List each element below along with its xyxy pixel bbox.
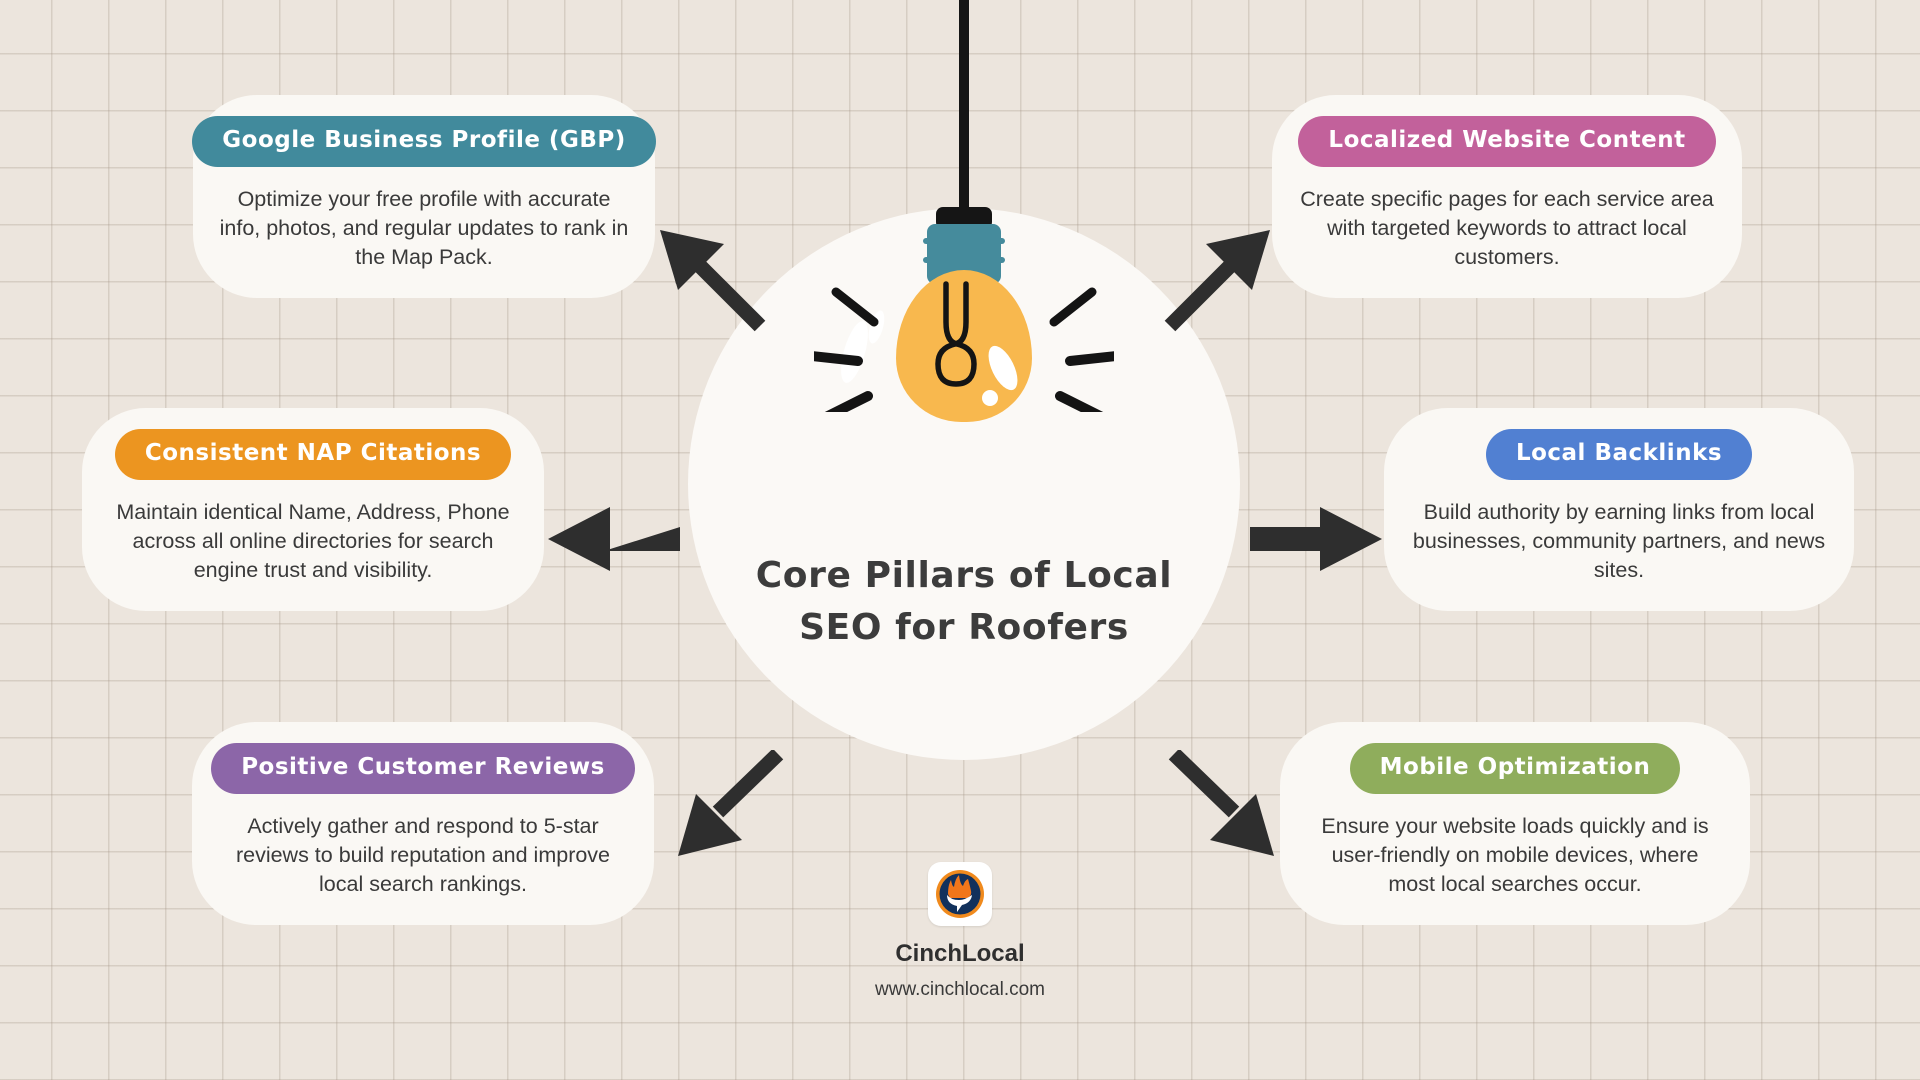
footer-branding: CinchLocal www.cinchlocal.com bbox=[875, 862, 1045, 1001]
card-consistent-nap-citations[interactable]: Consistent NAP Citations Maintain identi… bbox=[82, 408, 544, 611]
card-header-nap: Consistent NAP Citations bbox=[115, 429, 511, 480]
arrow-to-nap bbox=[548, 505, 680, 573]
card-local-backlinks[interactable]: Local Backlinks Build authority by earni… bbox=[1384, 408, 1854, 611]
arrow-to-localized-content bbox=[1140, 198, 1290, 338]
brand-url: www.cinchlocal.com bbox=[875, 979, 1045, 1001]
card-header-mobile: Mobile Optimization bbox=[1350, 743, 1681, 794]
arrow-to-backlinks bbox=[1250, 505, 1382, 573]
card-header-backlinks: Local Backlinks bbox=[1486, 429, 1752, 480]
card-header-content: Localized Website Content bbox=[1298, 116, 1715, 167]
card-body-nap: Maintain identical Name, Address, Phone … bbox=[108, 498, 518, 586]
cinchlocal-flame-logo-icon bbox=[933, 867, 987, 921]
card-body-gbp: Optimize your free profile with accurate… bbox=[219, 185, 629, 273]
page-title: Core Pillars of Local SEO for Roofers bbox=[749, 550, 1179, 654]
arrow-to-gbp bbox=[640, 198, 790, 338]
card-header-reviews: Positive Customer Reviews bbox=[211, 743, 635, 794]
card-google-business-profile[interactable]: Google Business Profile (GBP) Optimize y… bbox=[193, 95, 655, 298]
card-body-mobile: Ensure your website loads quickly and is… bbox=[1306, 812, 1724, 900]
card-body-backlinks: Build authority by earning links from lo… bbox=[1410, 498, 1828, 586]
infographic-canvas: Core Pillars of Local SEO for Roofers Go… bbox=[0, 0, 1920, 1080]
cinchlocal-logo-tile[interactable] bbox=[928, 862, 992, 926]
lightbulb-icon bbox=[814, 0, 1114, 412]
arrow-to-reviews bbox=[660, 750, 800, 880]
brand-name: CinchLocal bbox=[895, 940, 1024, 968]
card-body-reviews: Actively gather and respond to 5-star re… bbox=[218, 812, 628, 900]
card-header-gbp: Google Business Profile (GBP) bbox=[192, 116, 655, 167]
card-body-content: Create specific pages for each service a… bbox=[1298, 185, 1716, 273]
card-mobile-optimization[interactable]: Mobile Optimization Ensure your website … bbox=[1280, 722, 1750, 925]
card-positive-customer-reviews[interactable]: Positive Customer Reviews Actively gathe… bbox=[192, 722, 654, 925]
bulb-light-rays-icon bbox=[814, 0, 1114, 412]
card-localized-website-content[interactable]: Localized Website Content Create specifi… bbox=[1272, 95, 1742, 298]
arrow-to-mobile bbox=[1152, 750, 1292, 880]
